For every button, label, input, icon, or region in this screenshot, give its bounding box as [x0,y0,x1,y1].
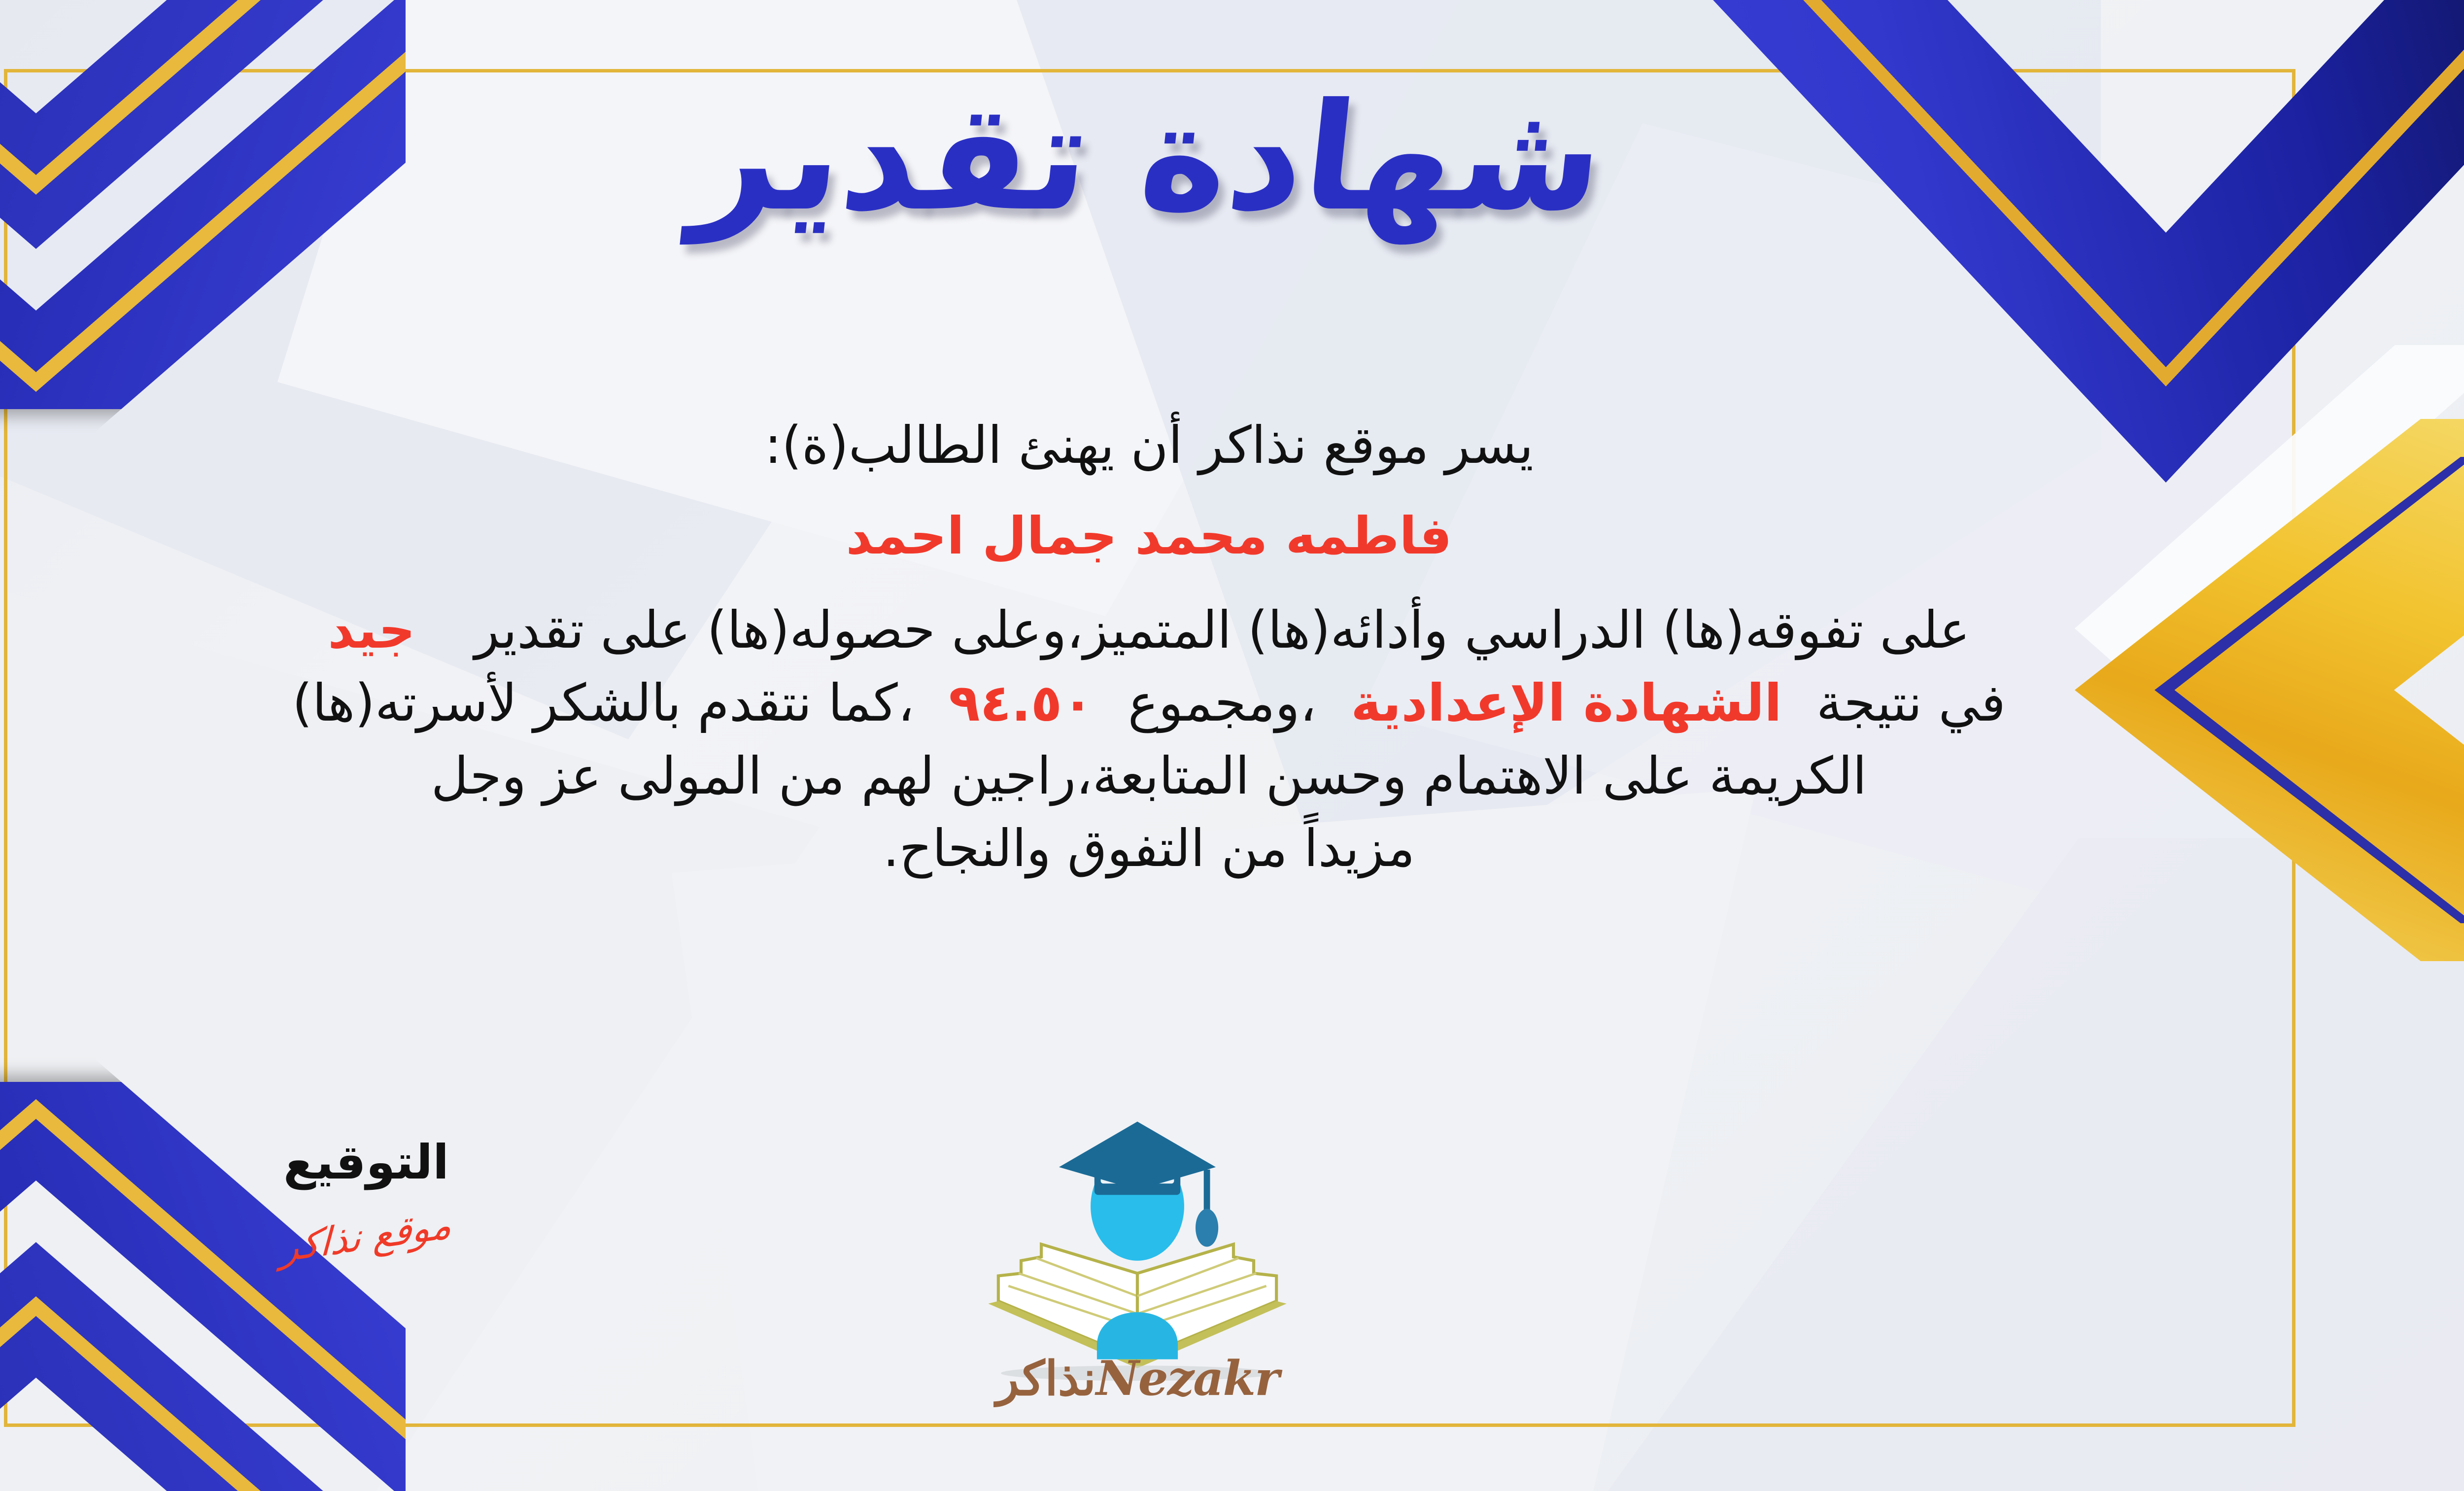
closing-wish-line: مزيداً من التفوق والنجاح. [0,812,2301,885]
tassel-knot [1196,1209,1218,1247]
total-label: ،ومجموع [1128,673,1317,733]
site-logo: Nezakrنذاكر [945,1111,1330,1402]
certificate-page: شهادة تقدير يسر موقع نذاكر أن يهنئ الطال… [0,0,2464,1491]
result-prefix: في نتيجة [1816,673,2006,733]
certificate-body: يسر موقع نذاكر أن يهنئ الطالب(ة): فاطمه … [0,409,2301,885]
signature-area: التوقيع موقع نذاكر [208,1139,524,1259]
student-name: فاطمه محمد جمال احمد [0,500,2301,573]
exam-name-value: الشهادة الإعدادية [1351,673,1782,733]
total-score-value: ٩٤.٥٠ [949,673,1093,733]
signature-label: التوقيع [208,1139,524,1186]
logo-wordmark: Nezakrنذاكر [945,1351,1330,1406]
family-thanks-line: الكريمة على الاهتمام وحسن المتابعة،راجين… [0,740,2301,813]
thanks-text: ،كما نتقدم بالشكر لأسرته(ها) [292,673,914,733]
exam-result-line: في نتيجةالشهادة الإعدادية،ومجموع٩٤.٥٠،كم… [0,667,2301,740]
cap-top [1059,1122,1216,1190]
logo-arabic-name: نذاكر [996,1351,1095,1406]
certificate-title: شهادة تقدير [0,84,2464,232]
logo-latin-name: Nezakr [1096,1351,1279,1406]
achievement-text: على تفوقه(ها) الدراسي وأدائه(ها) المتميز… [475,600,1970,660]
intro-line: يسر موقع نذاكر أن يهنئ الطالب(ة): [0,409,2301,482]
achievement-line: على تفوقه(ها) الدراسي وأدائه(ها) المتميز… [0,594,2301,667]
grade-value: جيد [328,600,415,660]
